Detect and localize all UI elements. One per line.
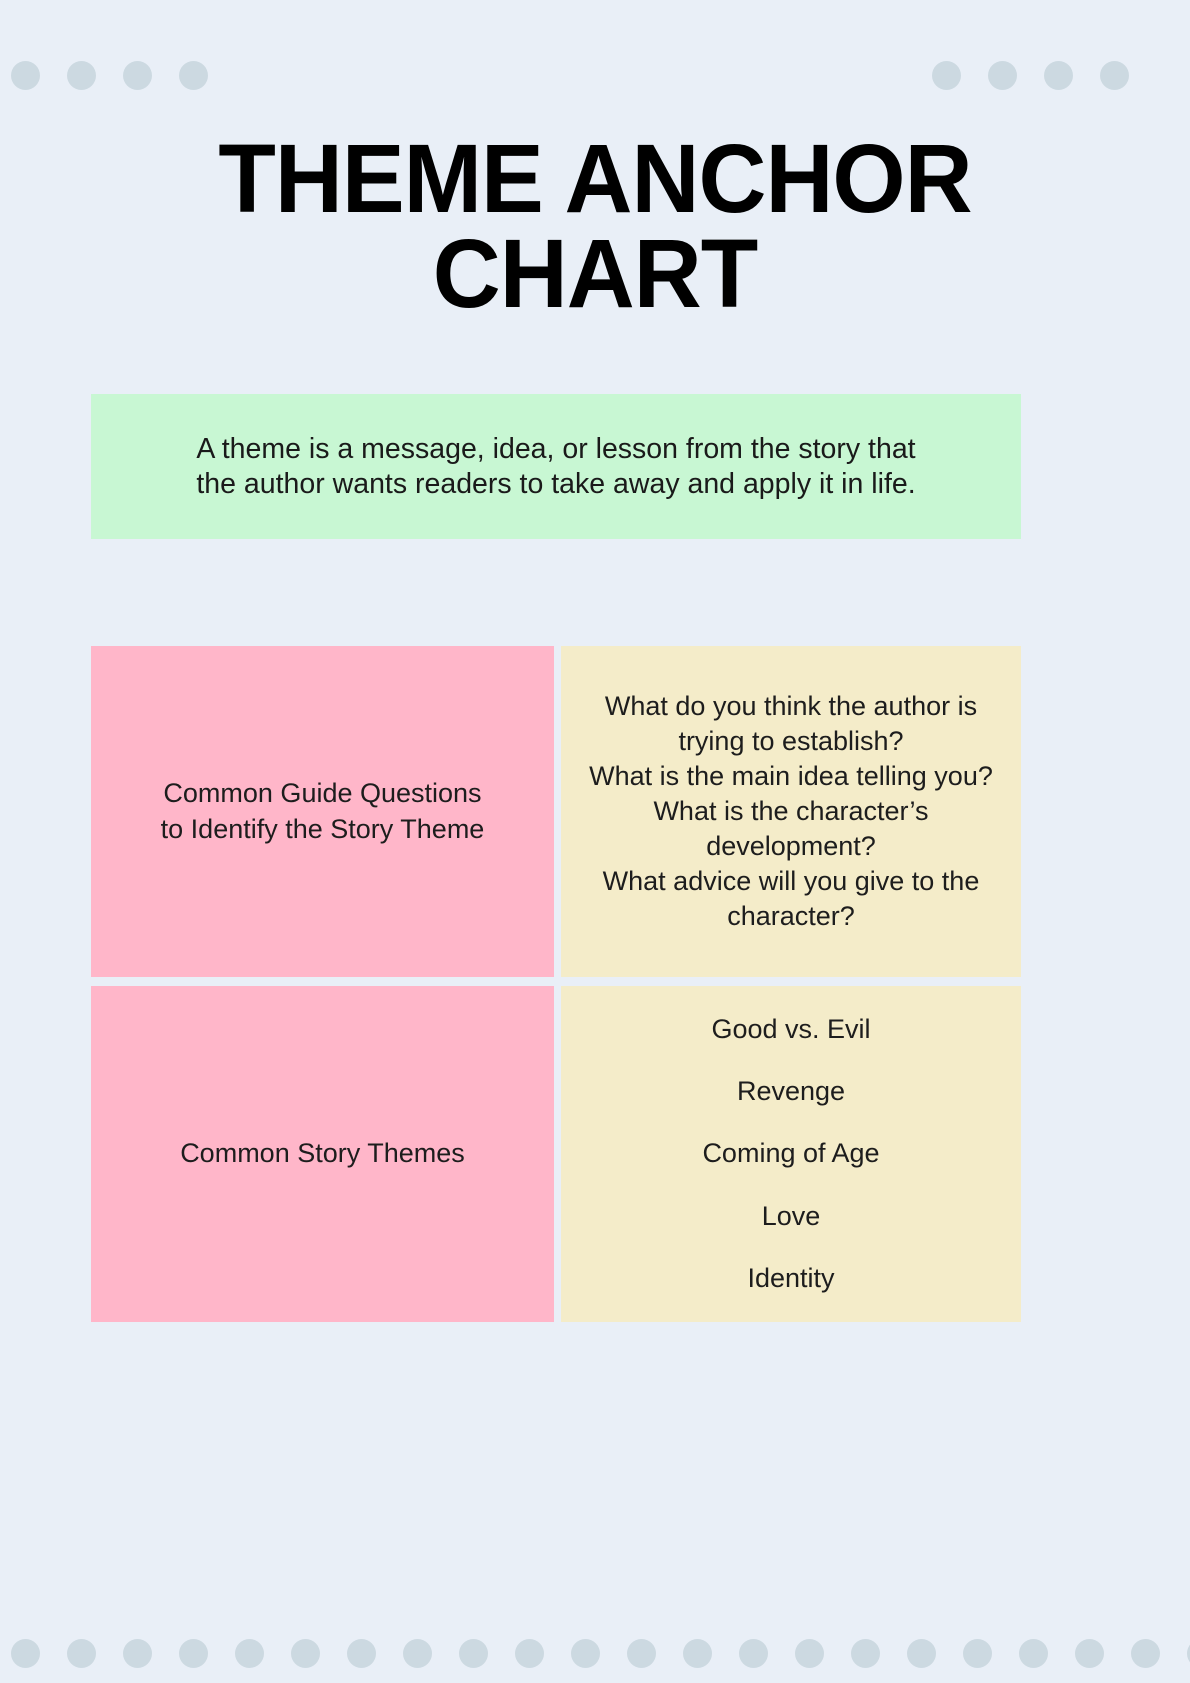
decorative-dot-icon [291, 1639, 320, 1668]
decorative-dot-icon [67, 61, 96, 90]
table-row: Common Story Themes Good vs. Evil Reveng… [91, 986, 1021, 1322]
list-item: Love [762, 1199, 821, 1234]
theme-definition-box: A theme is a message, idea, or lesson fr… [91, 394, 1021, 539]
list-item: Revenge [737, 1074, 845, 1109]
decorative-dot-icon [627, 1639, 656, 1668]
decorative-dot-icon [739, 1639, 768, 1668]
decorative-dot-icon [932, 61, 961, 90]
decorative-dot-icon [11, 61, 40, 90]
list-item: Good vs. Evil [711, 1012, 870, 1047]
decorative-dot-icon [963, 1639, 992, 1668]
anchor-chart-table: Common Guide Questions to Identify the S… [91, 646, 1021, 1331]
row-label-text: Common Story Themes [180, 1136, 465, 1171]
decorative-dot-icon [988, 61, 1017, 90]
decorative-dot-icon [515, 1639, 544, 1668]
decorative-dot-icon [123, 61, 152, 90]
list-item: What advice will you give to the charact… [603, 864, 980, 934]
decorative-dot-icon [1044, 61, 1073, 90]
list-item: What is the character’s development? [653, 794, 928, 864]
row-label-cell-guide-questions: Common Guide Questions to Identify the S… [91, 646, 554, 977]
decorative-dot-icon [347, 1639, 376, 1668]
row-label-cell-story-themes: Common Story Themes [91, 986, 554, 1322]
decorative-dot-icon [683, 1639, 712, 1668]
decorative-dot-icon [795, 1639, 824, 1668]
list-item: Coming of Age [702, 1136, 879, 1171]
decorative-dot-icon [11, 1639, 40, 1668]
decorative-dot-icon [1075, 1639, 1104, 1668]
page-title: THEME ANCHOR CHART [18, 131, 1172, 321]
decorative-dot-icon [1100, 61, 1129, 90]
top-dot-row [0, 60, 1190, 90]
decorative-dot-icon [235, 1639, 264, 1668]
decorative-dot-icon [179, 1639, 208, 1668]
page-title-wrapper: THEME ANCHOR CHART [0, 131, 1190, 321]
list-item: What is the main idea telling you? [589, 759, 993, 794]
decorative-dot-icon [907, 1639, 936, 1668]
decorative-dot-icon [1019, 1639, 1048, 1668]
decorative-dot-icon [403, 1639, 432, 1668]
theme-definition-text: A theme is a message, idea, or lesson fr… [196, 432, 915, 502]
table-row: Common Guide Questions to Identify the S… [91, 646, 1021, 977]
list-item: What do you think the author is trying t… [605, 689, 977, 759]
decorative-dot-icon [67, 1639, 96, 1668]
decorative-dot-icon [459, 1639, 488, 1668]
bottom-dot-row [0, 1638, 1190, 1668]
decorative-dot-icon [179, 61, 208, 90]
decorative-dot-icon [851, 1639, 880, 1668]
decorative-dot-icon [1131, 1639, 1160, 1668]
decorative-dot-icon [571, 1639, 600, 1668]
row-label-text: Common Guide Questions to Identify the S… [161, 776, 485, 846]
row-content-cell-guide-questions: What do you think the author is trying t… [561, 646, 1021, 977]
decorative-dot-icon [123, 1639, 152, 1668]
row-content-cell-story-themes: Good vs. Evil Revenge Coming of Age Love… [561, 986, 1021, 1322]
list-item: Identity [747, 1261, 834, 1296]
